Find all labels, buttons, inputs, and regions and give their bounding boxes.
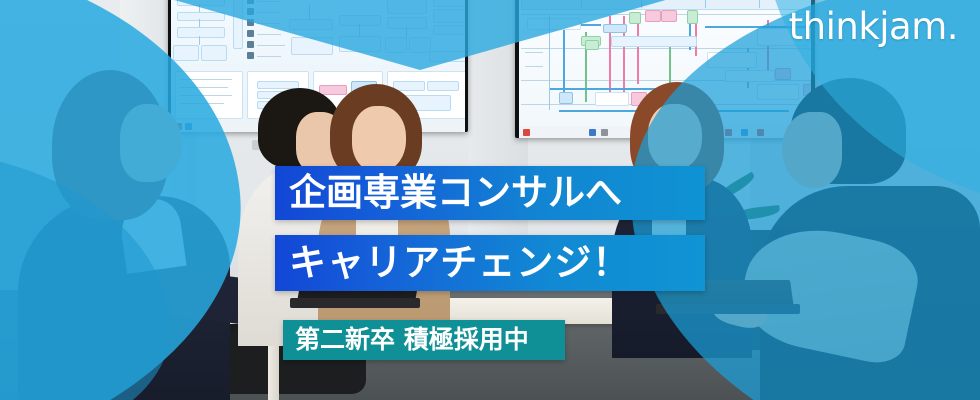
- hero-banner: thinkjam. 企画専業コンサルへ キャリアチェンジ！ 第二新卒 積極採用中: [0, 0, 980, 400]
- subhead-badge: 第二新卒 積極採用中: [283, 320, 565, 360]
- headline-line-2: キャリアチェンジ！: [275, 235, 705, 291]
- headline-line-1: 企画専業コンサルへ: [275, 166, 705, 220]
- thinkjam-logo[interactable]: thinkjam.: [789, 8, 958, 45]
